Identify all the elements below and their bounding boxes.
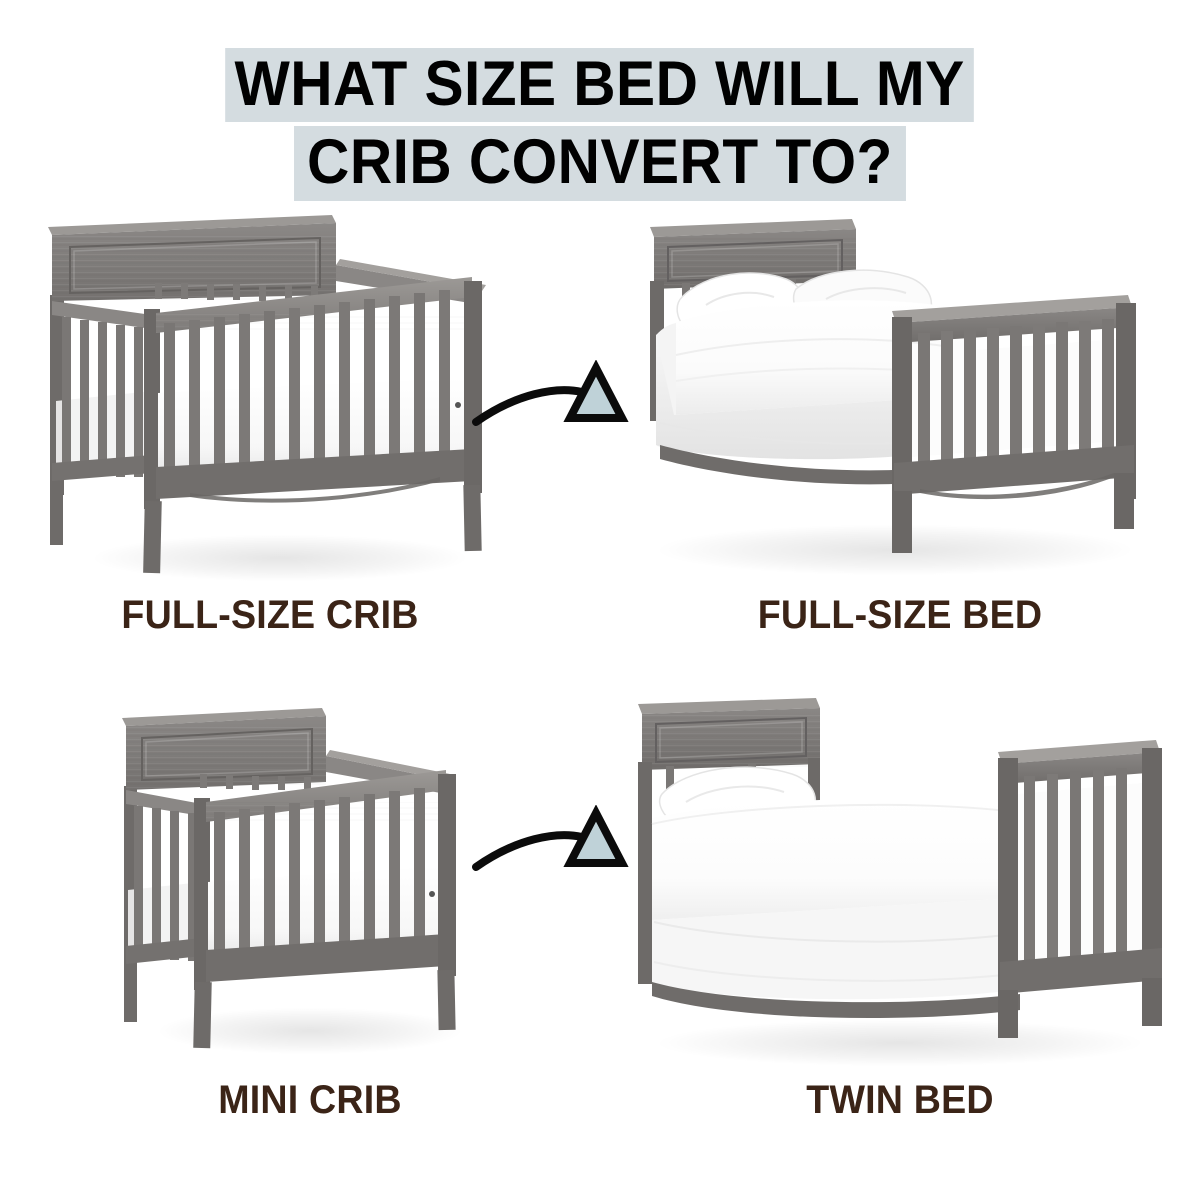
full-size-bed-illustration [620,205,1180,605]
conversion-row-full: FULL-SIZE CRIB [0,205,1200,675]
twin-bed-illustration [620,690,1180,1090]
full-size-bed-svg [620,205,1180,605]
conversion-arrow-1 [470,360,630,440]
page-title-line-1: WHAT SIZE BED WILL MY [0,48,1200,122]
full-size-crib-cell: FULL-SIZE CRIB [40,205,500,675]
curved-arrow-right-icon [470,360,630,440]
twin-bed-cell: TWIN BED [620,690,1180,1160]
mini-crib-cell: MINI CRIB [110,690,510,1160]
conversion-arrow-2 [470,805,630,885]
mini-crib-svg [110,690,510,1090]
mini-crib-label: MINI CRIB [122,1078,498,1123]
full-size-bed-label: FULL-SIZE BED [637,593,1163,638]
mini-crib-illustration [110,690,510,1090]
conversion-row-mini: MINI CRIB [0,690,1200,1160]
page-title-line-1-text: WHAT SIZE BED WILL MY [226,48,975,122]
full-size-crib-illustration [40,205,500,605]
page-title-line-2: CRIB CONVERT TO? [0,126,1200,200]
full-size-crib-label: FULL-SIZE CRIB [54,593,486,638]
page-title: WHAT SIZE BED WILL MY CRIB CONVERT TO? [0,48,1200,201]
full-size-crib-svg [40,205,500,605]
twin-bed-label: TWIN BED [637,1078,1163,1123]
curved-arrow-right-icon [470,805,630,885]
full-size-bed-cell: FULL-SIZE BED [620,205,1180,675]
twin-bed-svg [620,690,1180,1090]
page-title-line-2-text: CRIB CONVERT TO? [294,126,906,200]
